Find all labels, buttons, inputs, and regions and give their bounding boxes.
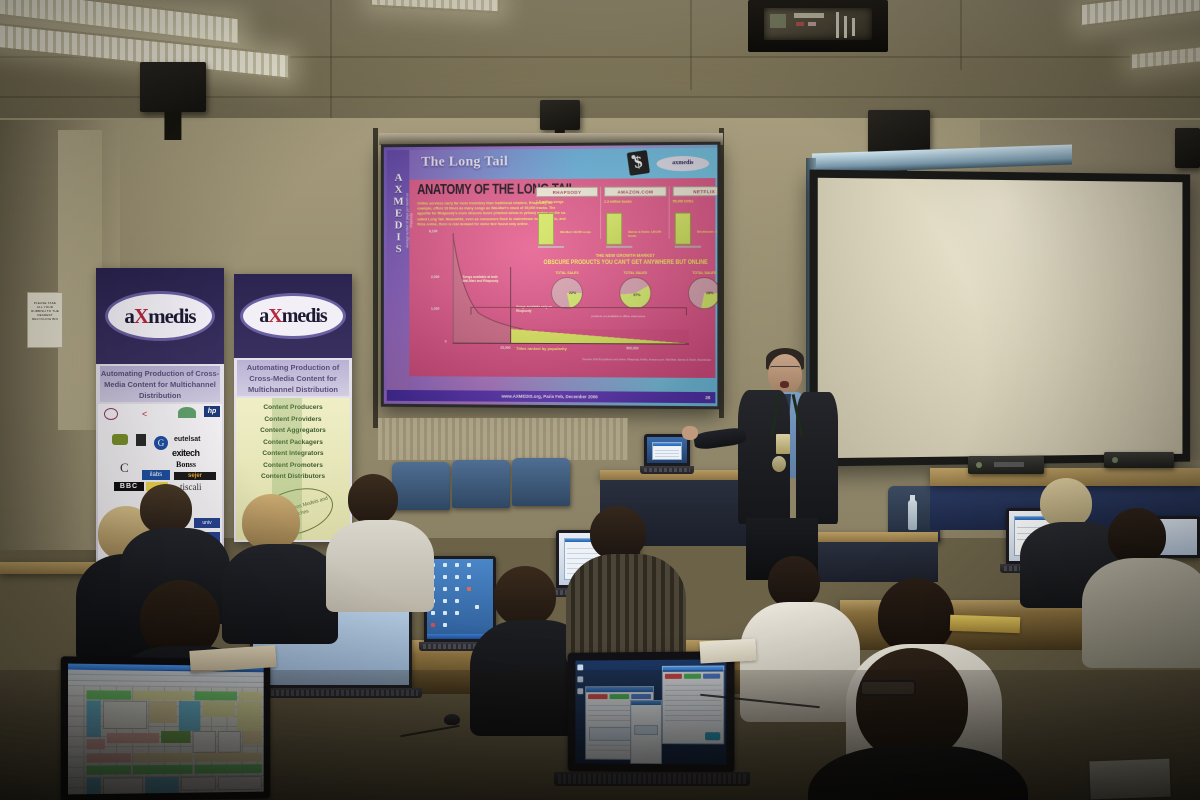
window-title-bar bbox=[653, 443, 681, 446]
store-inventory: 55,000 DVDs bbox=[673, 199, 718, 204]
store-column-rhapsody: RHAPSODY 1.5 million songs Wal-Mart: 39,… bbox=[536, 187, 598, 205]
store-comparison-tick bbox=[675, 246, 701, 248]
pie-chart: 57% bbox=[619, 277, 651, 309]
stacked-chair bbox=[392, 462, 450, 510]
partner-logo-icon bbox=[136, 434, 146, 446]
person-head bbox=[140, 484, 192, 534]
slide-footer: www.AXMEDIS.org, Paris Feb, December 200… bbox=[387, 390, 716, 403]
pie-label: TOTAL SALES bbox=[673, 271, 718, 275]
store-inventory: 2.3 million books bbox=[604, 199, 667, 204]
stacked-chair bbox=[452, 460, 510, 508]
wall-speaker bbox=[868, 110, 930, 154]
partner-logo-icon: ilabs bbox=[142, 470, 170, 480]
bbc-logo: BBC bbox=[114, 482, 144, 491]
tiscali-logo: tiscali bbox=[180, 482, 222, 491]
person-head bbox=[1108, 508, 1166, 564]
person-body bbox=[222, 544, 338, 644]
slide-title: The Long Tail bbox=[421, 154, 508, 170]
chart-annotation-head: Songs available at both Wal-Mart and Rha… bbox=[463, 275, 505, 284]
partner-logo-icon bbox=[104, 408, 118, 420]
x-tick: 25,000 bbox=[500, 346, 510, 350]
pie-footnote: products not available in offline retail… bbox=[558, 315, 679, 319]
person-head bbox=[878, 578, 954, 654]
presenter-hand bbox=[682, 426, 698, 440]
y-tick: 2,000 bbox=[431, 275, 439, 279]
wall-speaker bbox=[140, 62, 206, 112]
partner-logo-icon: G bbox=[154, 436, 168, 450]
presenter-mouth bbox=[780, 381, 789, 388]
person-head bbox=[242, 494, 300, 550]
desk-projector bbox=[968, 456, 1044, 474]
store-inventory-bar bbox=[675, 212, 691, 244]
partner-logo-icon bbox=[112, 434, 128, 445]
laptop-lid bbox=[644, 434, 690, 466]
person-body bbox=[326, 520, 434, 612]
wall-radiator bbox=[378, 418, 628, 460]
ceiling-projector bbox=[748, 0, 888, 52]
pie-connector-line bbox=[470, 307, 686, 315]
pie-label: TOTAL SALES bbox=[604, 271, 667, 275]
pie-group-amazon: TOTAL SALES 57% bbox=[604, 271, 667, 309]
chart-x-axis-label: Titles ranked by popularity bbox=[516, 346, 567, 351]
partner-logo-icon: < bbox=[142, 409, 162, 419]
store-inventory-bar bbox=[606, 213, 622, 245]
ceiling-beam bbox=[330, 0, 332, 120]
store-inventory-bar bbox=[538, 213, 554, 245]
person-head bbox=[768, 556, 820, 608]
store-column-amazon: AMAZON.COM 2.3 million books Barnes & No… bbox=[604, 186, 667, 204]
presenter bbox=[716, 348, 856, 578]
presentation-slide: A X M E D I S The Long Tail $ axmedis AN… bbox=[384, 145, 718, 407]
banner-left-logo-panel: aXmedis bbox=[96, 268, 224, 364]
glasses-icon bbox=[770, 366, 800, 373]
laptop-lid bbox=[424, 556, 496, 642]
water-bottle bbox=[908, 500, 917, 530]
floor-shadow bbox=[0, 670, 1200, 800]
y-tick: 1,000 bbox=[431, 307, 439, 311]
laptop-base[interactable] bbox=[640, 466, 694, 474]
partner-logo-icon bbox=[178, 407, 196, 418]
conference-folder bbox=[950, 615, 1021, 633]
person-head bbox=[348, 474, 398, 524]
wall-notice: PLEASE TAKE ALL YOUR RUBBISH TO THE NEAR… bbox=[27, 292, 63, 348]
ceiling-beam bbox=[690, 0, 692, 90]
store-column-netflix: NETFLIX 55,000 DVDs Blockbuster: 3,000 D… bbox=[673, 186, 718, 204]
store-comparison: Blockbuster: 3,000 DVDs bbox=[697, 231, 717, 235]
person-head bbox=[494, 566, 556, 626]
conference-room-photo: PLEASE TAKE ALL YOUR RUBBISH TO THE NEAR… bbox=[0, 0, 1200, 800]
pie-group-netflix: TOTAL SALES 28% bbox=[673, 271, 718, 309]
partner-logo-icon: C bbox=[120, 460, 134, 474]
axmedis-logo-text: aXmedis bbox=[96, 304, 224, 329]
store-name: NETFLIX bbox=[673, 186, 718, 196]
person-body bbox=[1082, 558, 1200, 668]
person-head bbox=[1040, 478, 1092, 528]
projection-screen-blank bbox=[810, 170, 1191, 467]
banner-right-tagline: Automating Production of Cross-Media Con… bbox=[237, 360, 349, 396]
ceiling-beam bbox=[960, 0, 962, 70]
projector-interior bbox=[764, 8, 872, 40]
slide-footer-url: www.AXMEDIS.org, Paris Feb, December 200… bbox=[501, 394, 597, 400]
store-comparison-tick bbox=[538, 246, 564, 248]
y-tick: 0 bbox=[445, 340, 447, 344]
chart-divider bbox=[510, 267, 511, 343]
pie-label: TOTAL SALES bbox=[536, 271, 598, 275]
x-tick: 500,000 bbox=[626, 346, 638, 350]
slide-page-number: 28 bbox=[705, 392, 710, 403]
presenter-head bbox=[768, 354, 802, 394]
presenter-badge bbox=[776, 434, 790, 454]
growth-market-heading: THE NEW GROWTH MARKET bbox=[536, 253, 715, 258]
laptop-screen[interactable] bbox=[427, 559, 493, 639]
axmedis-logo-text: aXmedis bbox=[234, 305, 352, 328]
wall-speaker bbox=[1175, 128, 1200, 168]
long-tail-yellow-region bbox=[510, 329, 689, 344]
pie-group-rhapsody: TOTAL SALES 22% bbox=[536, 271, 598, 309]
store-separator bbox=[669, 186, 670, 238]
y-tick: 6,100 bbox=[429, 229, 437, 233]
pie-chart: 28% bbox=[688, 277, 717, 309]
pie-chart: 22% bbox=[551, 277, 583, 309]
person-body bbox=[566, 554, 686, 666]
presenter-badge-holder bbox=[772, 456, 786, 472]
slide-source-note: Sources: Erik Brynjolfsson and others, R… bbox=[435, 357, 711, 361]
growth-market-subheading: OBSCURE PRODUCTS YOU CAN'T GET ANYWHERE … bbox=[528, 259, 717, 266]
store-separator bbox=[600, 187, 601, 239]
store-name: AMAZON.COM bbox=[604, 186, 667, 196]
hp-logo: hp bbox=[204, 406, 220, 417]
pie-percent: 22% bbox=[569, 291, 576, 295]
chart-y-axis-label: Average number of plays per month on Rha… bbox=[405, 186, 413, 255]
window-mock[interactable] bbox=[652, 442, 682, 460]
wall-speaker bbox=[540, 100, 580, 130]
person-head bbox=[590, 506, 646, 560]
screen-post-left bbox=[373, 128, 378, 428]
store-name: RHAPSODY bbox=[536, 187, 598, 197]
partner-logo-icon: univ bbox=[194, 518, 220, 528]
laptop-screen[interactable] bbox=[647, 437, 687, 463]
store-comparison: Wal-Mart: 39,000 songs bbox=[560, 231, 596, 235]
pie-percent: 28% bbox=[706, 291, 713, 295]
exitech-logo: exitech bbox=[172, 448, 222, 457]
banner-left-tagline: Automating Production of Cross-Media Con… bbox=[100, 366, 220, 402]
screen-surface bbox=[818, 178, 1183, 458]
presenter-jacket-right bbox=[796, 392, 838, 524]
partner-logo-icon: sejer bbox=[174, 472, 216, 480]
price-tag-dollar-icon: $ bbox=[627, 150, 650, 176]
pie-percent: 57% bbox=[633, 293, 640, 297]
banner-right-logo-panel: aXmedis bbox=[234, 274, 352, 358]
partner-logo-icon: Bonss bbox=[176, 460, 216, 468]
papers bbox=[699, 639, 756, 664]
projection-screen-slide: A X M E D I S The Long Tail $ axmedis AN… bbox=[381, 142, 721, 410]
store-comparison: Barnes & Noble: 130,000 books bbox=[628, 231, 664, 239]
eutelsat-logo: eutelsat bbox=[174, 436, 220, 444]
stacked-chair bbox=[512, 458, 570, 506]
desk-projector bbox=[1104, 452, 1174, 468]
slide-body: ANATOMY OF THE LONG TAIL Online services… bbox=[409, 178, 715, 378]
store-inventory: 1.5 million songs bbox=[536, 200, 598, 205]
side-letter: A bbox=[387, 172, 411, 184]
store-comparison-tick bbox=[606, 246, 632, 248]
